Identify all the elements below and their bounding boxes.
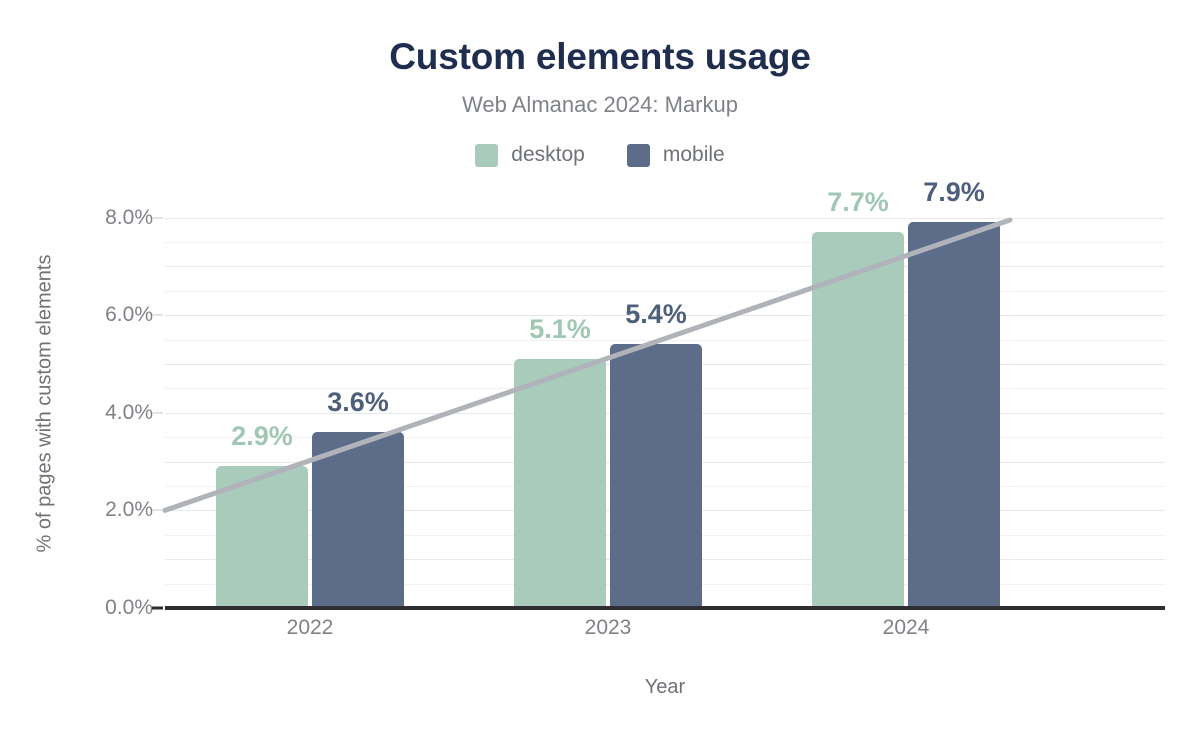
x-axis-line bbox=[165, 606, 1165, 610]
legend-swatch-desktop-icon bbox=[475, 144, 498, 167]
trendline-segment bbox=[165, 220, 1010, 510]
x-axis-title: Year bbox=[165, 676, 1165, 699]
legend-swatch-mobile-icon bbox=[627, 144, 650, 167]
plot-area: 2.9%3.6%5.1%5.4%7.7%7.9% 0.0%2.0%4.0%6.0… bbox=[165, 198, 1165, 608]
y-tick-label: 4.0% bbox=[13, 401, 153, 425]
x-tick-label-2022: 2022 bbox=[210, 616, 410, 640]
y-tick-mark bbox=[152, 412, 163, 413]
y-tick-label: 8.0% bbox=[13, 206, 153, 230]
x-tick-label-2024: 2024 bbox=[806, 616, 1006, 640]
legend-label-desktop: desktop bbox=[511, 143, 585, 167]
y-tick-label: 0.0% bbox=[13, 596, 153, 620]
y-tick-mark bbox=[152, 510, 163, 511]
chart-figure: Custom elements usage Web Almanac 2024: … bbox=[0, 0, 1200, 742]
x-tick-label-2023: 2023 bbox=[508, 616, 708, 640]
chart-legend: desktop mobile bbox=[0, 143, 1200, 167]
legend-item-mobile[interactable]: mobile bbox=[627, 143, 725, 167]
y-tick-label: 2.0% bbox=[13, 498, 153, 522]
legend-label-mobile: mobile bbox=[663, 143, 725, 167]
y-tick-mark bbox=[152, 217, 163, 218]
chart-subtitle: Web Almanac 2024: Markup bbox=[0, 92, 1200, 118]
trendline bbox=[165, 198, 1165, 608]
y-tick-label: 6.0% bbox=[13, 303, 153, 327]
y-tick-mark bbox=[152, 315, 163, 316]
legend-item-desktop[interactable]: desktop bbox=[475, 143, 585, 167]
chart-title: Custom elements usage bbox=[0, 36, 1200, 78]
y-tick-mark bbox=[152, 607, 163, 610]
